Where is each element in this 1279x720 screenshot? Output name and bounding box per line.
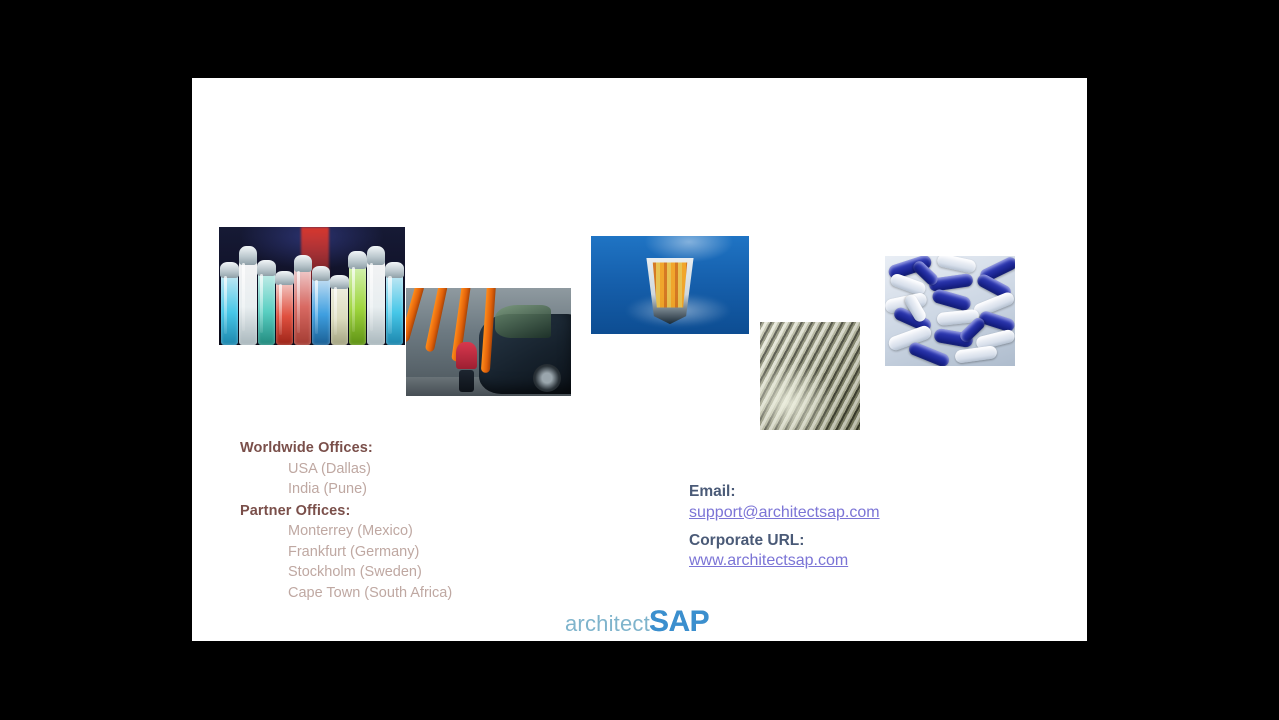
automotive-image [406, 288, 571, 396]
office-item-stockholm: Stockholm (Sweden) [288, 565, 452, 580]
office-item-monterrey: Monterrey (Mexico) [288, 524, 452, 539]
office-item-cape-town: Cape Town (South Africa) [288, 586, 452, 601]
capsule-shape [936, 256, 977, 274]
architectsap-logo: architect SAP [565, 605, 709, 639]
email-heading: Email: [689, 484, 880, 500]
partner-offices-heading: Partner Offices: [240, 504, 452, 519]
capsule-shape [954, 346, 997, 365]
logo-architect-text: architect [565, 611, 650, 637]
video-letterbox-frame: Worldwide Offices: USA (Dallas) India (P… [0, 0, 1279, 720]
contact-block: Email: support@architectsap.com Corporat… [689, 484, 880, 574]
chemicals-image [219, 227, 405, 345]
office-item-frankfurt: Frankfurt (Germany) [288, 545, 452, 560]
worldwide-offices-heading: Worldwide Offices: [240, 441, 452, 456]
capsule-shape [907, 341, 951, 366]
logo-sap-text: SAP [649, 605, 709, 639]
office-item-india: India (Pune) [288, 482, 452, 497]
shipping-image [591, 236, 749, 334]
email-link[interactable]: support@architectsap.com [689, 505, 880, 521]
corporate-url-heading: Corporate URL: [689, 533, 880, 549]
pharma-image [885, 256, 1015, 366]
presentation-slide: Worldwide Offices: USA (Dallas) India (P… [192, 78, 1087, 641]
corporate-url-link[interactable]: www.architectsap.com [689, 553, 848, 569]
office-item-usa: USA (Dallas) [288, 462, 452, 477]
offices-block: Worldwide Offices: USA (Dallas) India (P… [240, 441, 452, 606]
barcode-image [760, 322, 860, 430]
